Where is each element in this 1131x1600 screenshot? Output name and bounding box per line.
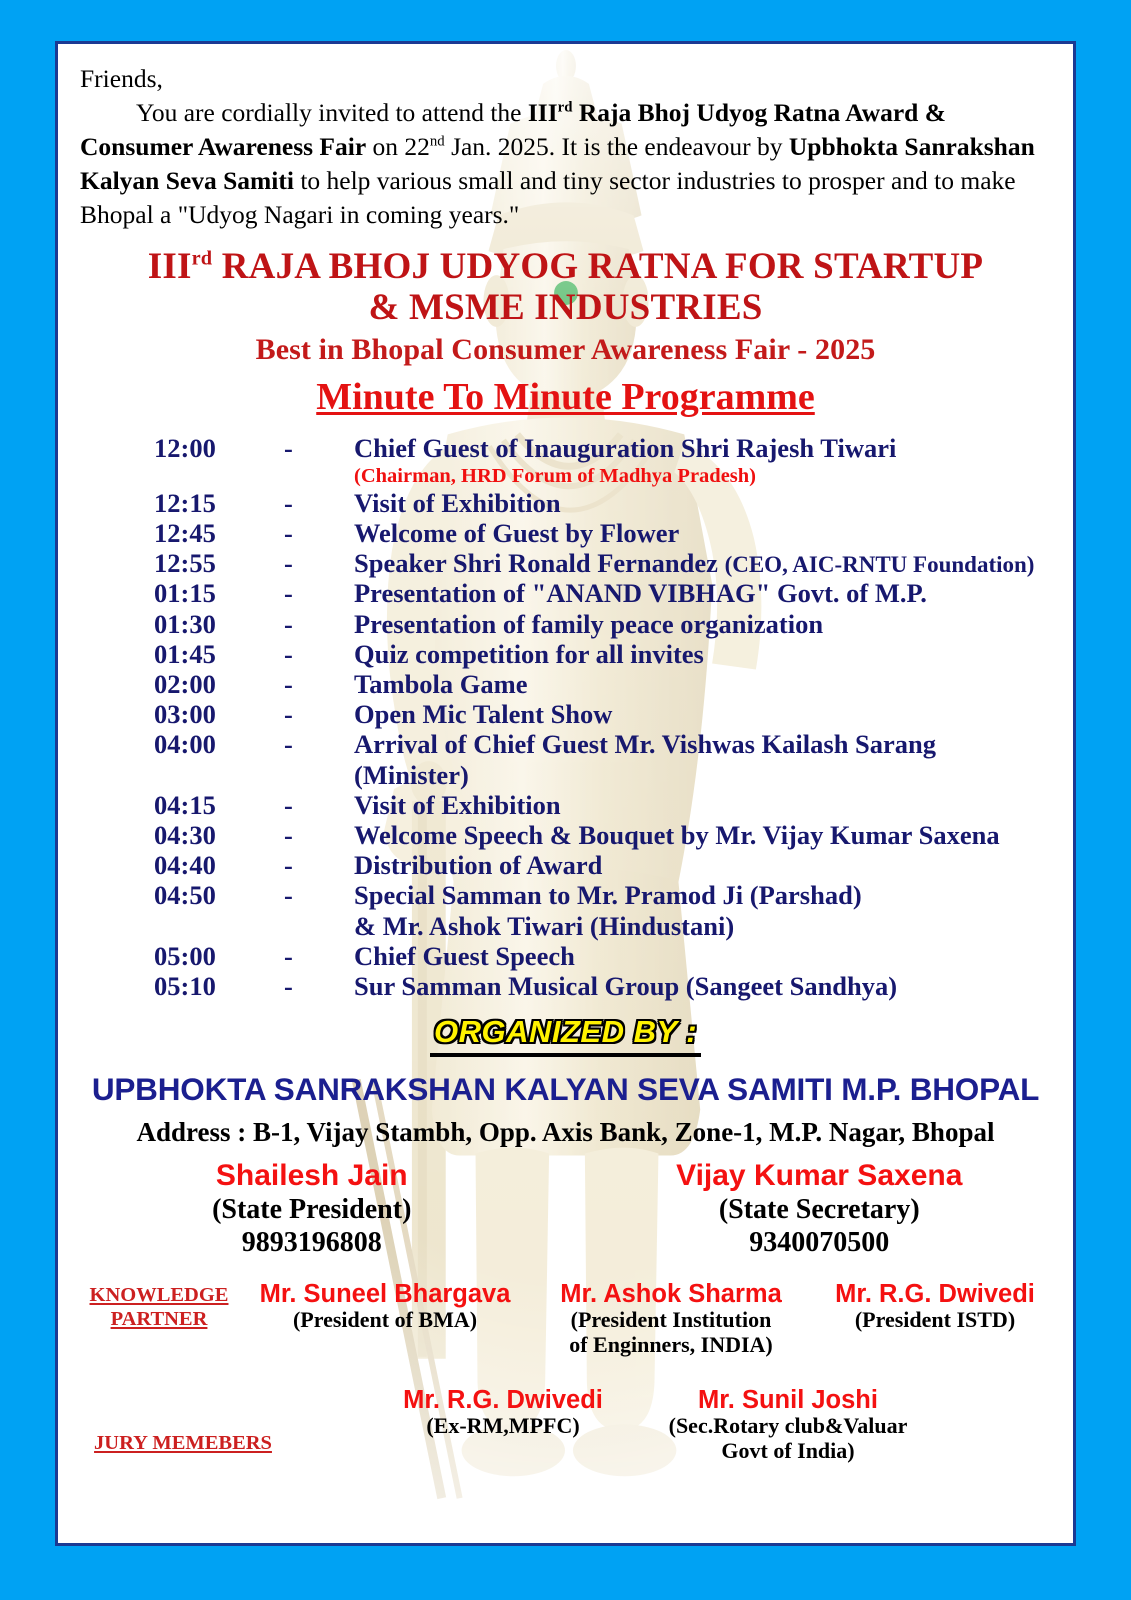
organized-by-label: ORGANIZED BY : <box>430 1014 701 1057</box>
person-name: Mr. Suneel Bhargava <box>240 1280 530 1308</box>
schedule-separator: - <box>284 578 354 608</box>
schedule-description-continued: (Minister) <box>354 760 1073 790</box>
schedule-row: 04:15-Visit of Exhibition <box>154 790 1073 820</box>
schedule-separator: - <box>284 433 354 463</box>
schedule-description: Visit of Exhibition <box>354 790 1073 820</box>
knowledge-partner-person: Mr. Suneel Bhargava (President of BMA) <box>240 1280 530 1333</box>
schedule-time: 01:45 <box>154 639 284 669</box>
schedule-description: Special Samman to Mr. Pramod Ji (Parshad… <box>354 880 1073 910</box>
schedule-time: 01:30 <box>154 609 284 639</box>
officer-role: (State President) <box>68 1193 555 1227</box>
organizer-name: UPBHOKTA SANRAKSHAN KALYAN SEVA SAMITI M… <box>58 1071 1073 1108</box>
knowledge-partner-person: Mr. Ashok Sharma (President Institution … <box>526 1280 816 1357</box>
schedule-time: 04:00 <box>154 729 284 759</box>
schedule-separator: - <box>284 639 354 669</box>
person-title-1: (President of BMA) <box>240 1308 530 1333</box>
schedule-row: 04:50-Special Samman to Mr. Pramod Ji (P… <box>154 880 1073 910</box>
schedule-description: Chief Guest of Inauguration Shri Rajesh … <box>354 433 1073 463</box>
schedule-time: 04:50 <box>154 880 284 910</box>
schedule-separator: - <box>284 699 354 729</box>
schedule-description: Welcome Speech & Bouquet by Mr. Vijay Ku… <box>354 820 1073 850</box>
poster-card: Friends, You are cordially invited to at… <box>55 41 1076 1546</box>
schedule-description-note: (CEO, AIC-RNTU Foundation) <box>725 552 1035 577</box>
organizer-address: Address : B-1, Vijay Stambh, Opp. Axis B… <box>58 1117 1073 1148</box>
main-title: IIIrd RAJA BHOJ UDYOG RATNA FOR STARTUP&… <box>58 246 1073 329</box>
knowledge-partner-person: Mr. R.G. Dwivedi (President ISTD) <box>810 1280 1060 1333</box>
main-title-line2: & MSME INDUSTRIES <box>368 287 762 328</box>
officer-name: Shailesh Jain <box>68 1159 555 1193</box>
schedule-description: Open Mic Talent Show <box>354 699 1073 729</box>
schedule-description-continued: & Mr. Ashok Tiwari (Hindustani) <box>354 911 1073 941</box>
schedule-time: 12:55 <box>154 548 284 578</box>
schedule-separator: - <box>284 880 354 910</box>
officer-phone[interactable]: 9893196808 <box>68 1226 555 1260</box>
knowledge-partner-label-line2: PARTNER <box>111 1308 208 1330</box>
schedule-description: Speaker Shri Ronald Fernandez (CEO, AIC-… <box>354 548 1073 578</box>
officers-row: Shailesh Jain (State President) 98931968… <box>58 1159 1073 1260</box>
schedule-row: 12:45-Welcome of Guest by Flower <box>154 518 1073 548</box>
person-title-1: (President Institution <box>526 1308 816 1333</box>
schedule-row: 05:10-Sur Samman Musical Group (Sangeet … <box>154 971 1073 1001</box>
schedule-time: 05:00 <box>154 941 284 971</box>
officer-state-president: Shailesh Jain (State President) 98931968… <box>68 1159 555 1260</box>
schedule-separator: - <box>284 518 354 548</box>
schedule-separator: - <box>284 548 354 578</box>
title-block: IIIrd RAJA BHOJ UDYOG RATNA FOR STARTUP&… <box>58 246 1073 420</box>
schedule-description: Visit of Exhibition <box>354 488 1073 518</box>
knowledge-partner-block: KNOWLEDGE PARTNER Mr. Suneel Bhargava (P… <box>58 1276 1073 1372</box>
schedule-description: Arrival of Chief Guest Mr. Vishwas Kaila… <box>354 729 1073 759</box>
invitation-poster: Friends, You are cordially invited to at… <box>0 0 1131 1600</box>
intro-body: You are cordially invited to attend the … <box>80 96 1051 232</box>
officer-phone[interactable]: 9340070500 <box>576 1226 1063 1260</box>
schedule-time: 04:40 <box>154 850 284 880</box>
schedule-time: 12:15 <box>154 488 284 518</box>
schedule-row: 12:15-Visit of Exhibition <box>154 488 1073 518</box>
schedule-row: 01:30-Presentation of family peace organ… <box>154 609 1073 639</box>
schedule-row: 01:45-Quiz competition for all invites <box>154 639 1073 669</box>
schedule-description: Sur Samman Musical Group (Sangeet Sandhy… <box>354 971 1073 1001</box>
officer-state-secretary: Vijay Kumar Saxena (State Secretary) 934… <box>576 1159 1063 1260</box>
intro-sup-nd: nd <box>430 133 445 149</box>
schedule-description: Welcome of Guest by Flower <box>354 518 1073 548</box>
schedule-list: 12:00-Chief Guest of Inauguration Shri R… <box>58 433 1073 1001</box>
intro-sup-rd: rd <box>558 99 573 115</box>
schedule-description: Quiz competition for all invites <box>354 639 1073 669</box>
schedule-row: 01:15-Presentation of "ANAND VIBHAG" Gov… <box>154 578 1073 608</box>
schedule-time: 12:45 <box>154 518 284 548</box>
jury-member: Mr. Sunil Joshi (Sec.Rotary club&Valuar … <box>628 1386 948 1463</box>
person-title-2: of Enginners, INDIA) <box>526 1333 816 1358</box>
schedule-row: 04:30-Welcome Speech & Bouquet by Mr. Vi… <box>154 820 1073 850</box>
organized-by-wrap: ORGANIZED BY : <box>58 1014 1073 1057</box>
officer-role: (State Secretary) <box>576 1193 1063 1227</box>
schedule-time: 12:00 <box>154 433 284 463</box>
schedule-row: 12:55-Speaker Shri Ronald Fernandez (CEO… <box>154 548 1073 578</box>
knowledge-partner-label-line1: KNOWLEDGE <box>90 1284 229 1306</box>
schedule-time: 01:15 <box>154 578 284 608</box>
intro-text-1: You are cordially invited to attend the <box>136 98 528 127</box>
schedule-row: 03:00-Open Mic Talent Show <box>154 699 1073 729</box>
schedule-description: Distribution of Award <box>354 850 1073 880</box>
person-title-2: Govt of India) <box>628 1439 948 1464</box>
person-title-1: (Sec.Rotary club&Valuar <box>628 1414 948 1439</box>
schedule-description: Tambola Game <box>354 669 1073 699</box>
schedule-description: Chief Guest Speech <box>354 941 1073 971</box>
schedule-separator: - <box>284 729 354 759</box>
schedule-row: 05:00-Chief Guest Speech <box>154 941 1073 971</box>
jury-members-block: JURY MEMEBERS Mr. R.G. Dwivedi (Ex-RM,MP… <box>58 1382 1073 1492</box>
intro-strong-1: III <box>528 98 558 127</box>
schedule-separator: - <box>284 820 354 850</box>
intro-text-2: on 22 <box>366 132 430 161</box>
schedule-separator: - <box>284 850 354 880</box>
schedule-time: 04:30 <box>154 820 284 850</box>
person-name: Mr. R.G. Dwivedi <box>810 1280 1060 1308</box>
schedule-time: 03:00 <box>154 699 284 729</box>
schedule-description: Presentation of family peace organizatio… <box>354 609 1073 639</box>
schedule-row: 02:00-Tambola Game <box>154 669 1073 699</box>
main-title-sup: rd <box>192 247 213 269</box>
jury-members-label: JURY MEMEBERS <box>78 1432 288 1456</box>
schedule-row: 04:40-Distribution of Award <box>154 850 1073 880</box>
schedule-separator: - <box>284 488 354 518</box>
schedule-row: 12:00-Chief Guest of Inauguration Shri R… <box>154 433 1073 463</box>
main-title-prefix: III <box>148 246 192 287</box>
schedule-separator: - <box>284 609 354 639</box>
knowledge-partner-label: KNOWLEDGE PARTNER <box>84 1284 234 1331</box>
programme-heading: Minute To Minute Programme <box>58 375 1073 419</box>
person-title-1: (Ex-RM,MPFC) <box>358 1414 648 1439</box>
schedule-description: Presentation of "ANAND VIBHAG" Govt. of … <box>354 578 1073 608</box>
schedule-separator: - <box>284 790 354 820</box>
schedule-time: 05:10 <box>154 971 284 1001</box>
schedule-time: 02:00 <box>154 669 284 699</box>
intro-text-3: Jan. 2025. It is the endeavour by <box>445 132 789 161</box>
subtitle: Best in Bhopal Consumer Awareness Fair -… <box>58 333 1073 367</box>
schedule-separator: - <box>284 669 354 699</box>
person-name: Mr. Ashok Sharma <box>526 1280 816 1308</box>
jury-member: Mr. R.G. Dwivedi (Ex-RM,MPFC) <box>358 1386 648 1439</box>
intro-greeting: Friends, <box>80 62 1051 96</box>
person-title-1: (President ISTD) <box>810 1308 1060 1333</box>
schedule-time: 04:15 <box>154 790 284 820</box>
schedule-row: 04:00-Arrival of Chief Guest Mr. Vishwas… <box>154 729 1073 759</box>
schedule-subnote: (Chairman, HRD Forum of Madhya Pradesh) <box>354 464 1073 488</box>
person-name: Mr. Sunil Joshi <box>628 1386 948 1414</box>
schedule-separator: - <box>284 941 354 971</box>
main-title-line1: RAJA BHOJ UDYOG RATNA FOR STARTUP <box>212 246 983 287</box>
schedule-separator: - <box>284 971 354 1001</box>
intro-paragraph: Friends, You are cordially invited to at… <box>80 62 1051 232</box>
person-name: Mr. R.G. Dwivedi <box>358 1386 648 1414</box>
officer-name: Vijay Kumar Saxena <box>576 1159 1063 1193</box>
